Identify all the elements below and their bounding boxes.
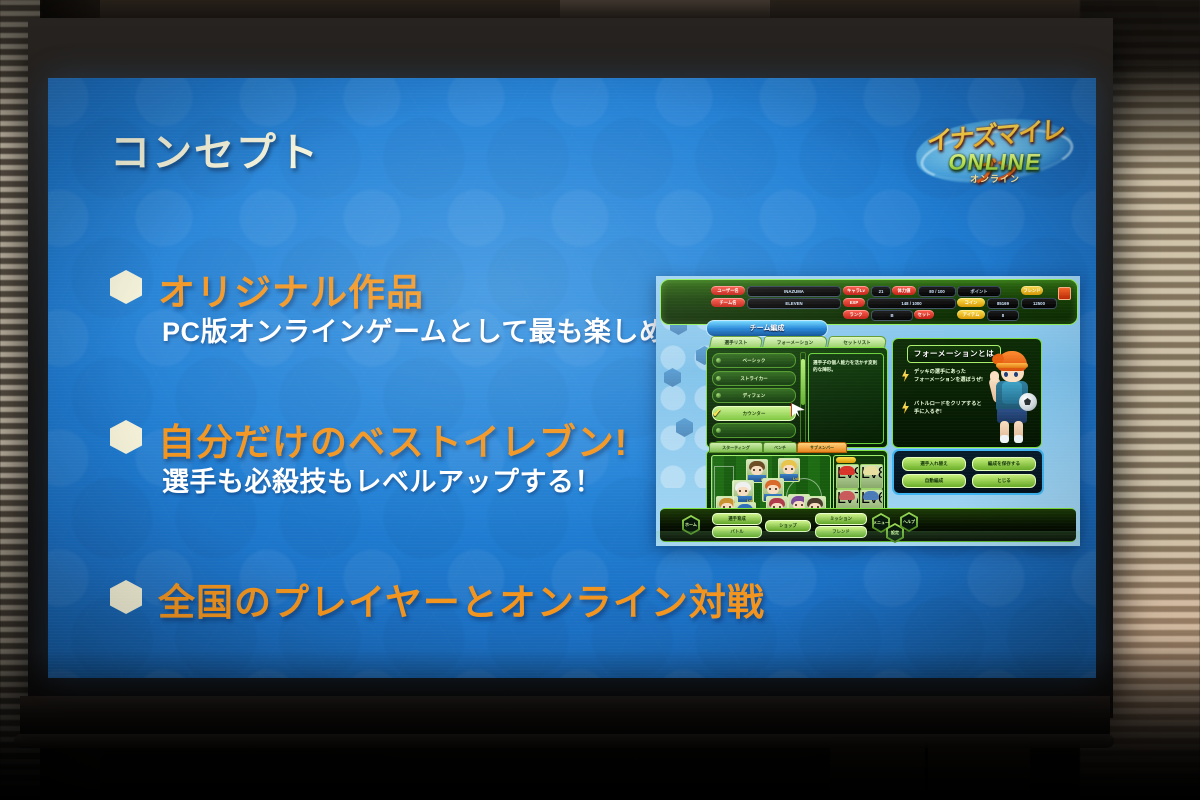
- bullet-2-heading: 自分だけのベストイレブン!: [158, 412, 628, 466]
- exp-value: 148 / 1000: [867, 298, 956, 309]
- bench-label: [836, 457, 856, 463]
- friend-value: 12500: [1021, 298, 1057, 309]
- item-label: アイテム: [957, 310, 985, 319]
- room-photo: コンセプト イナズマイレブン ONLINE オンライン オリジナル作品 PC版オ…: [0, 0, 1200, 800]
- list-item[interactable]: ディフェン: [712, 388, 796, 403]
- coin-value: 85169: [987, 298, 1019, 309]
- character-hair: [997, 351, 1027, 371]
- user-name-label: ユーザー名: [711, 286, 745, 295]
- character-eye: [1004, 372, 1008, 377]
- bullet-dot-icon: [716, 428, 721, 433]
- bullet-dot-icon: [716, 393, 721, 398]
- character-sock: [1000, 435, 1009, 443]
- rank-value: B: [871, 310, 913, 321]
- lightning-bolt-icon: [901, 369, 910, 382]
- coin-label: コイン: [957, 298, 985, 307]
- list-item-selected[interactable]: ✔カウンター: [712, 406, 796, 421]
- bench-player-card[interactable]: Lv9: [836, 464, 859, 489]
- stamina-label: 体力値: [892, 286, 916, 295]
- friend-label: フレンド: [1021, 286, 1043, 295]
- item-value: 8: [987, 310, 1019, 321]
- tab-sub-members[interactable]: サブメンバー: [797, 442, 847, 453]
- action-menu-panel: 選手入れ替え 編成を保存する 自動編成 とじる: [892, 449, 1044, 495]
- presentation-slide: コンセプト イナズマイレブン ONLINE オンライン オリジナル作品 PC版オ…: [48, 78, 1096, 678]
- team-name-label: チーム名: [711, 298, 745, 307]
- user-name-value: INAZUMA: [747, 286, 841, 297]
- formation-description-panel: 選手子の個人能力を活かす変則的な陣形。: [808, 353, 884, 444]
- tab-starting[interactable]: スターティング: [709, 442, 763, 453]
- tutorial-panel: フォーメーションとは デッキの選手にあった フォーメーションを選ぼうぜ! バトル…: [892, 338, 1042, 448]
- list-item[interactable]: [712, 423, 796, 438]
- inazuma-eleven-online-logo: イナズマイレブン ONLINE オンライン: [914, 102, 1074, 194]
- mission-button[interactable]: ミッション: [815, 513, 867, 525]
- close-button[interactable]: とじる: [972, 474, 1036, 488]
- character-headband: [996, 363, 1028, 368]
- auto-formation-button[interactable]: 自動編成: [902, 474, 966, 488]
- bullet-dot-icon: [716, 376, 721, 381]
- player-training-button[interactable]: 選手育成: [712, 513, 762, 525]
- team-name-value: ELEVEN: [747, 298, 841, 309]
- game-screenshot: ユーザー名 INAZUMA チーム名 ELEVEN キャラLv 21 体力値 8…: [656, 276, 1080, 546]
- bullet-dot-icon: [716, 358, 721, 363]
- bullet-2-subtext: 選手も必殺技もレベルアップする！: [162, 460, 602, 499]
- level-label: キャラLv: [843, 286, 869, 295]
- section-title-team-formation: チーム編成: [706, 320, 828, 337]
- lightning-bolt-icon: [901, 401, 910, 414]
- tab-bench[interactable]: ベンチ: [763, 442, 797, 453]
- pitch-tab-bar: スターティング ベンチ サブメンバー: [709, 442, 885, 451]
- list-item[interactable]: ベーシック: [712, 353, 796, 368]
- checkmark-icon: ✔: [712, 406, 725, 420]
- save-formation-button[interactable]: 編成を保存する: [972, 457, 1036, 471]
- character-thumbs-up: [990, 371, 999, 382]
- bullet-3-heading: 全国のプレイヤーとオンライン対戦: [158, 572, 765, 626]
- page-title: コンセプト: [110, 120, 320, 178]
- list-item[interactable]: ストライカー: [712, 371, 796, 386]
- bullet-1-subtext: PC版オンラインゲームとして最も楽しめる。: [162, 310, 721, 349]
- scrollbar[interactable]: [800, 352, 806, 445]
- set-label: セット: [914, 310, 934, 319]
- bench-player-card[interactable]: Lv8: [860, 464, 883, 489]
- soccer-ball-icon: [1019, 393, 1037, 411]
- character-endou-mamoru: [985, 351, 1037, 445]
- formation-description-text: 選手子の個人能力を活かす変則的な陣形。: [813, 359, 879, 373]
- rank-label: ランク: [843, 310, 869, 319]
- logo-online-kana-text: オンライン: [922, 172, 1068, 185]
- level-value: 21: [871, 286, 891, 297]
- game-header-bar: ユーザー名 INAZUMA チーム名 ELEVEN キャラLv 21 体力値 8…: [660, 279, 1078, 325]
- screen-reflection: [656, 531, 1080, 546]
- scrollbar-thumb[interactable]: [801, 359, 805, 405]
- character-eye: [1014, 372, 1018, 377]
- close-icon[interactable]: [1058, 287, 1071, 300]
- point-value: ポイント: [957, 286, 1001, 297]
- character-sock: [1014, 435, 1023, 443]
- swap-players-button[interactable]: 選手入れ替え: [902, 457, 966, 471]
- stamina-value: 80 / 100: [918, 286, 956, 297]
- exp-label: EXP: [843, 298, 865, 307]
- formation-panel: ベーシック ストライカー ディフェン ✔カウンター 選手子の個人能力を活かす変則…: [706, 347, 888, 448]
- bullet-1-heading: オリジナル作品: [158, 262, 424, 316]
- floor-shadow: [0, 650, 1200, 800]
